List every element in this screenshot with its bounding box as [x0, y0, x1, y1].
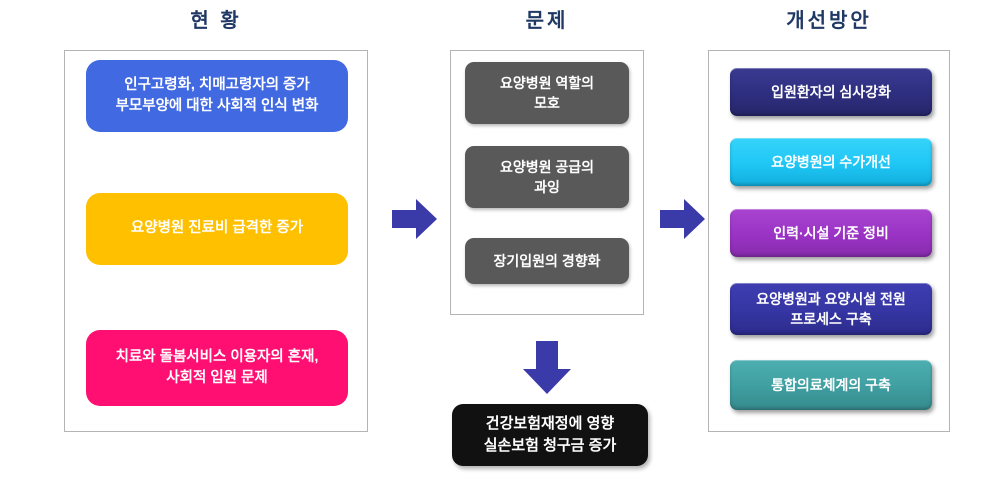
node-long-term-stay[interactable]: 장기입원의 경향화: [465, 238, 629, 284]
node-integrated-care-system[interactable]: 통합의료체계의 구축: [730, 360, 932, 410]
node-mixed-users[interactable]: 치료와 돌봄서비스 이용자의 혼재, 사회적 입원 문제: [86, 330, 348, 406]
arrow-problem-to-outcome: [521, 341, 573, 395]
flowchart-canvas: 현 황 문제 개선방안 인구고령화, 치매고령자의 증가 부모부양에 대한 사회…: [0, 0, 1000, 489]
node-financial-impact[interactable]: 건강보험재정에 영향 실손보험 청구금 증가: [452, 404, 648, 466]
arrow-current-to-problem: [392, 196, 438, 242]
arrow-problem-to-improve: [660, 196, 706, 242]
node-aging-population[interactable]: 인구고령화, 치매고령자의 증가 부모부양에 대한 사회적 인식 변화: [86, 60, 348, 132]
node-medical-cost-surge[interactable]: 요양병원 진료비 급격한 증가: [86, 193, 348, 265]
node-ambiguous-role[interactable]: 요양병원 역할의 모호: [465, 62, 629, 124]
node-fee-improvement[interactable]: 요양병원의 수가개선: [730, 138, 932, 186]
node-transfer-process[interactable]: 요양병원과 요양시설 전원 프로세스 구축: [730, 283, 932, 335]
node-staff-facility-standards[interactable]: 인력·시설 기준 정비: [730, 209, 932, 257]
column-title-current: 현 황: [64, 4, 368, 33]
node-review-strengthening[interactable]: 입원환자의 심사강화: [730, 68, 932, 116]
column-title-problem: 문제: [450, 4, 644, 33]
column-title-improve: 개선방안: [708, 4, 950, 33]
node-oversupply[interactable]: 요양병원 공급의 과잉: [465, 146, 629, 208]
